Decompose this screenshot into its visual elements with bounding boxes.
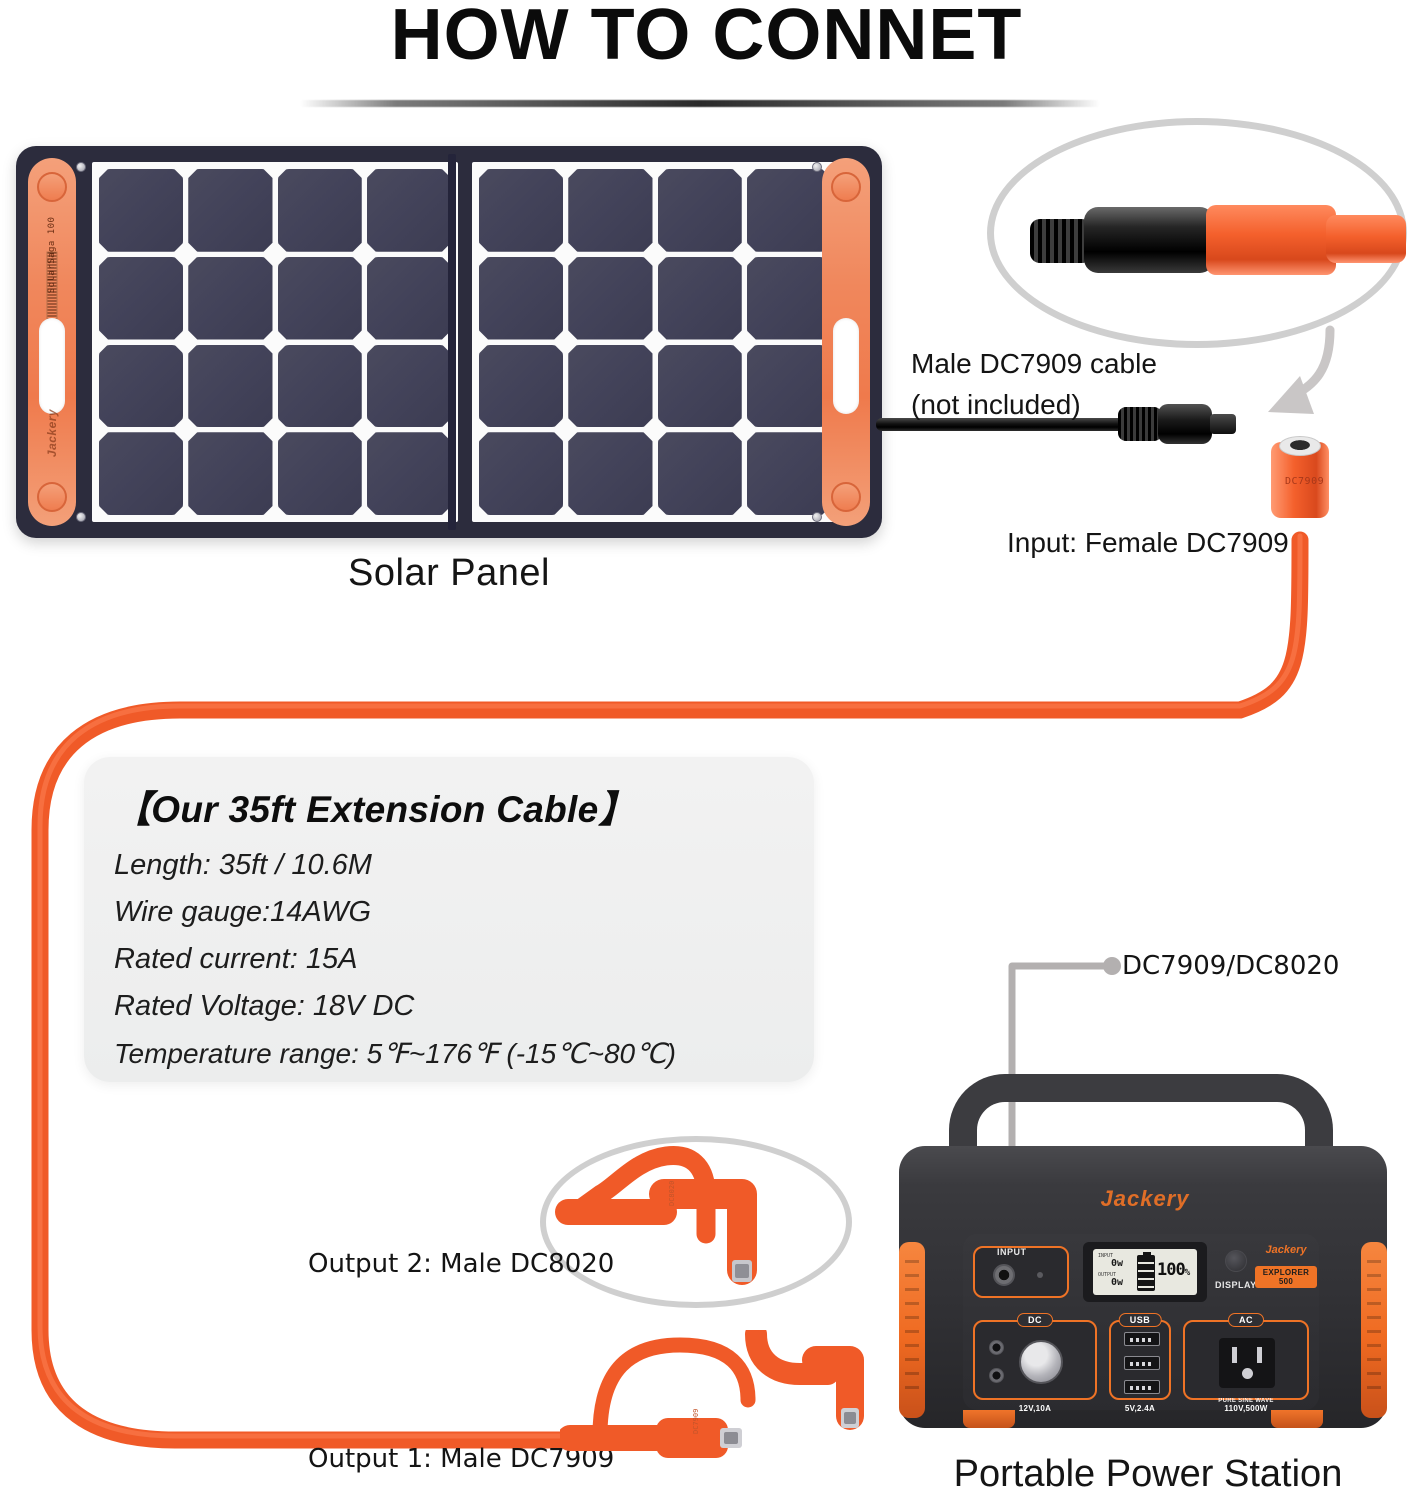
- dc-input-jack[interactable]: [993, 1264, 1015, 1286]
- usb-port-icon[interactable]: [1124, 1380, 1160, 1394]
- screw-icon: [812, 512, 822, 522]
- solar-cell: [99, 169, 183, 252]
- station-face-brand: Jackery: [1255, 1244, 1317, 1256]
- usb-output-section[interactable]: USB 5V,2.4A: [1109, 1320, 1171, 1400]
- plug-tip: [1210, 414, 1236, 434]
- usb-section-rating: 5V,2.4A: [1111, 1404, 1169, 1413]
- usb-port-icon[interactable]: [1124, 1356, 1160, 1370]
- solar-panel-caption: Solar Panel: [16, 552, 882, 595]
- solar-cell: [188, 257, 272, 340]
- solar-cell: [747, 169, 831, 252]
- input-female-label: Input: Female DC7909: [1007, 527, 1289, 559]
- spec-line-current: Rated current: 15A: [114, 943, 784, 976]
- car-port-icon[interactable]: [1019, 1340, 1063, 1384]
- ac-blade: [1257, 1347, 1262, 1363]
- dc-output-section[interactable]: DC 12V,10A: [973, 1320, 1097, 1400]
- solar-cell: [99, 257, 183, 340]
- screw-icon: [76, 162, 86, 172]
- solar-cell-grid: [99, 169, 451, 515]
- ac-output-section[interactable]: AC PURE SINE WAVE 110V,500W: [1183, 1320, 1309, 1400]
- lcd-percent-unit: %: [1185, 1268, 1189, 1278]
- solar-cell: [479, 169, 563, 252]
- socket-marking-text: DC7909: [1285, 476, 1324, 487]
- solar-cell: [568, 257, 652, 340]
- solar-cell: [568, 432, 652, 515]
- orange-female-connector: DC7909: [1206, 205, 1336, 275]
- solar-cell: [188, 345, 272, 428]
- solar-cell: [188, 169, 272, 252]
- station-model-badge: EXPLORER 500: [1255, 1266, 1317, 1288]
- ac-rating-line2: 110V,500W: [1224, 1404, 1267, 1413]
- dc-rating-line2: 12V,10A: [1019, 1404, 1052, 1413]
- usb-section-tag: USB: [1119, 1313, 1162, 1327]
- solar-cell: [747, 345, 831, 428]
- plug-body: [1158, 404, 1212, 444]
- display-button[interactable]: [1225, 1250, 1247, 1272]
- lcd-battery-percent: 100%: [1157, 1260, 1189, 1280]
- magnifier-dc8020: DC8020: [540, 1136, 852, 1308]
- spec-line-temperature: Temperature range: 5℉~176℉ (-15℃~80℃): [114, 1037, 784, 1070]
- panel-brand-label: Jackery: [45, 409, 59, 457]
- ac-rating-line1: PURE SINE WAVE: [1185, 1398, 1307, 1404]
- male-cable-label-line2: (not included): [911, 385, 1157, 426]
- male-cable-label: Male DC7909 cable (not included): [911, 344, 1157, 425]
- solar-cell: [479, 432, 563, 515]
- socket-opening: [1279, 436, 1321, 456]
- indicator-dot-icon: [1037, 1272, 1043, 1278]
- lcd-screen: INPUT OUTPUT 0w 0w 100%: [1093, 1249, 1197, 1295]
- solar-cell: [747, 432, 831, 515]
- battery-icon: [1137, 1255, 1155, 1291]
- panel-rail-right: [822, 158, 870, 526]
- usb-port-icon[interactable]: [1124, 1332, 1160, 1346]
- solar-cell: [658, 432, 742, 515]
- lcd-percent-value: 100: [1157, 1260, 1185, 1280]
- bubble-arrow-dc7909: [1268, 330, 1330, 414]
- dc-input-port-group[interactable]: INPUT: [973, 1246, 1069, 1298]
- panel-rail-left: SolarSaga 100 Jackery: [28, 158, 76, 526]
- station-output-row: DC 12V,10A USB 5V,2.4A: [963, 1310, 1319, 1410]
- ac-section-tag: AC: [1228, 1313, 1264, 1327]
- solar-cell: [278, 257, 362, 340]
- dc-6mm-port[interactable]: [989, 1340, 1004, 1355]
- solar-cell: [658, 169, 742, 252]
- barcode-icon: [47, 252, 58, 324]
- svg-text:DC8020: DC8020: [668, 1181, 676, 1206]
- input-port-label: INPUT: [997, 1247, 1027, 1257]
- output2-label: Output 2: Male DC8020: [308, 1249, 614, 1279]
- black-connector-body: [1084, 207, 1214, 273]
- solar-cell: [367, 169, 451, 252]
- male-cable-label-line1: Male DC7909 cable: [911, 344, 1157, 385]
- solar-cell: [188, 432, 272, 515]
- solar-cell: [367, 432, 451, 515]
- dc8020-connector-illustration: DC8020: [546, 1142, 858, 1314]
- station-bumper-left: [899, 1242, 925, 1418]
- grommet-icon: [37, 172, 67, 202]
- ac-section-rating: PURE SINE WAVE 110V,500W: [1185, 1398, 1307, 1413]
- solar-cell-grid: [479, 169, 831, 515]
- ac-outlet-icon[interactable]: [1219, 1338, 1275, 1388]
- panel-wing-left: [90, 160, 460, 524]
- solar-cell: [568, 169, 652, 252]
- lcd-output-watts: 0w: [1111, 1277, 1123, 1288]
- dc-section-rating: 12V,10A: [975, 1404, 1095, 1413]
- panel-handle-right: [833, 318, 859, 414]
- extension-cable-spec-card: 【Our 35ft Extension Cable】 Length: 35ft …: [84, 757, 814, 1082]
- solar-cell: [747, 257, 831, 340]
- grommet-icon: [831, 172, 861, 202]
- station-front-panel: INPUT INPUT OUTPUT 0w 0w 100% DISPLAY: [963, 1234, 1319, 1410]
- panel-handle-left: [39, 318, 65, 414]
- solar-cell: [479, 257, 563, 340]
- spec-line-wire-gauge: Wire gauge:14AWG: [114, 896, 784, 929]
- solar-cell: [278, 169, 362, 252]
- spec-card-title: 【Our 35ft Extension Cable】: [114, 779, 784, 833]
- spec-line-length: Length: 35ft / 10.6M: [114, 849, 784, 882]
- female-dc7909-socket: DC7909: [1271, 432, 1329, 552]
- title-divider: [300, 100, 1100, 107]
- screw-icon: [76, 512, 86, 522]
- solar-cell: [568, 345, 652, 428]
- grommet-icon: [831, 482, 861, 512]
- station-input-callout: DC7909/DC8020: [1122, 951, 1339, 981]
- solar-cell: [658, 257, 742, 340]
- black-connector-boot: [1030, 219, 1092, 263]
- power-station-caption: Portable Power Station: [893, 1453, 1403, 1496]
- magnifier-dc7909: DC7909: [987, 118, 1407, 348]
- page-title: HOW TO CONNET: [0, 0, 1413, 76]
- grommet-icon: [37, 482, 67, 512]
- solar-cell: [99, 345, 183, 428]
- spec-line-voltage: Rated Voltage: 18V DC: [114, 990, 784, 1023]
- dc-section-tag: DC: [1017, 1313, 1053, 1327]
- solar-cell: [479, 345, 563, 428]
- cable-splitter-connectors: DC7909: [560, 1330, 890, 1490]
- solar-cell: [658, 345, 742, 428]
- svg-text:DC7909: DC7909: [692, 1409, 700, 1434]
- ac-blade: [1232, 1347, 1237, 1363]
- dc-6mm-port[interactable]: [989, 1368, 1004, 1383]
- portable-power-station: Jackery INPUT INPUT OUTPUT 0w 0w 100%: [893, 1074, 1393, 1446]
- display-button-label: DISPLAY: [1215, 1280, 1257, 1290]
- panel-wing-right: [470, 160, 840, 524]
- lcd-display: INPUT OUTPUT 0w 0w 100%: [1083, 1242, 1207, 1302]
- usb-rating-line2: 5V,2.4A: [1125, 1404, 1155, 1413]
- solar-cell: [278, 345, 362, 428]
- solar-cell: [278, 432, 362, 515]
- solar-cell: [367, 345, 451, 428]
- solar-cell: [99, 432, 183, 515]
- lcd-input-watts: 0w: [1111, 1258, 1123, 1269]
- station-bumper-right: [1361, 1242, 1387, 1418]
- solar-panel: SolarSaga 100 Jackery: [16, 146, 882, 538]
- panel-hinge: [448, 154, 456, 530]
- solar-cell: [367, 257, 451, 340]
- infographic-canvas: HOW TO CONNET SolarSaga 100 Jackery: [0, 0, 1413, 1500]
- station-top-brand: Jackery: [1045, 1186, 1245, 1212]
- ac-ground-pin: [1242, 1368, 1253, 1379]
- station-top-row: INPUT INPUT OUTPUT 0w 0w 100% DISPLAY: [963, 1234, 1319, 1306]
- screw-icon: [812, 162, 822, 172]
- orange-connector-taper: [1326, 215, 1406, 263]
